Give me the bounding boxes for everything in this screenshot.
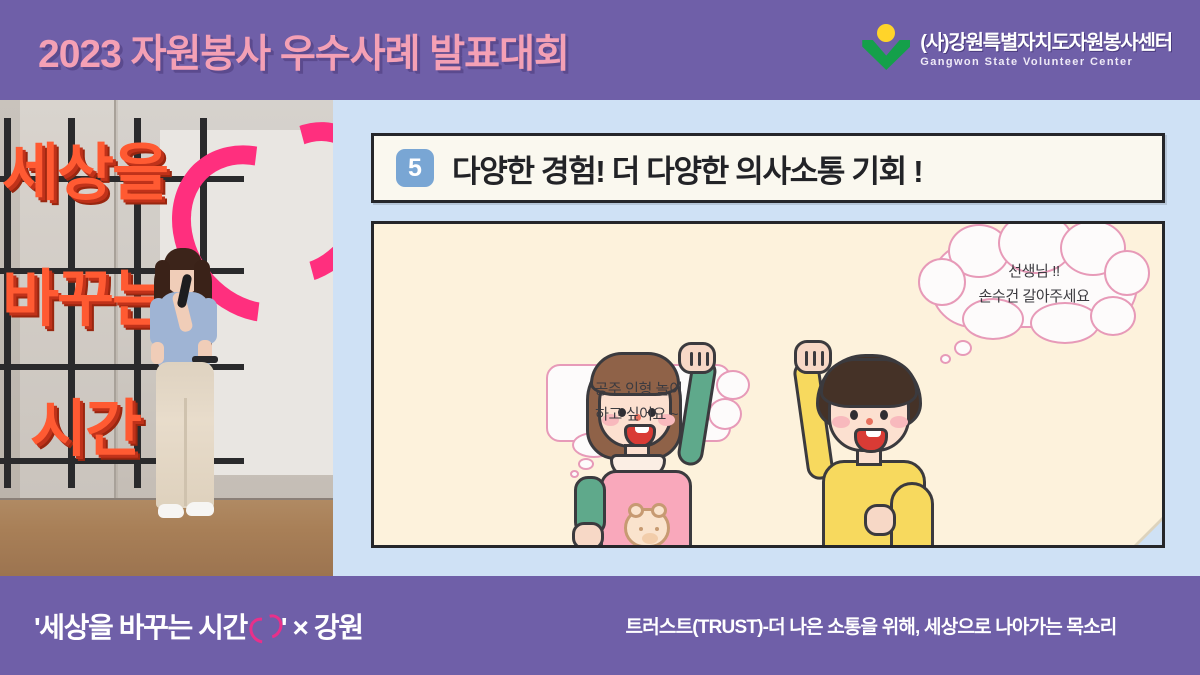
presenter-figure — [140, 248, 230, 533]
volunteer-center-logo-icon — [862, 24, 910, 70]
slide-heading: 다양한 경험! 더 다양한 의사소통 기회 ! — [452, 146, 922, 191]
girl-hand-left — [572, 522, 604, 548]
boy-raised-fist — [794, 340, 832, 374]
presenter-shoe-right — [186, 502, 214, 516]
boy-character — [794, 334, 1009, 548]
logo-sun-icon — [877, 24, 895, 42]
boy-eye-right — [880, 410, 888, 420]
logo-english-name: Gangwon State Volunteer Center — [920, 56, 1172, 68]
boy-lowered-fist — [864, 504, 896, 536]
slide-number-badge: 5 — [396, 149, 434, 187]
presenter-sleeve-right — [200, 298, 217, 344]
girl-bubble-line-2: 하고 싶어요 ~! — [595, 403, 682, 428]
presenter-video-panel: 세상을 바꾸는 시간 — [0, 100, 333, 576]
presenter-sleeve-left — [150, 298, 167, 346]
bear-eye-right — [655, 527, 659, 531]
slide-caption: 트러스트(TRUST)-더 나은 소통을 위해, 세상으로 나아가는 목소리 — [560, 612, 1182, 639]
organization-logo: (사)강원특별자치도자원봉사센터 Gangwon State Volunteer… — [862, 24, 1172, 70]
main-stage: 세상을 바꾸는 시간 — [0, 100, 1200, 576]
girl-bubble-line-1: 공주 인형 놀이 — [595, 378, 683, 403]
bubble-lobe — [918, 258, 966, 306]
boy-bangs — [820, 358, 918, 408]
boy-cheek-right — [890, 416, 908, 428]
girl-shirt-bear-icon — [624, 508, 670, 548]
presenter-hand-left — [151, 342, 164, 364]
heart-icon — [250, 613, 278, 639]
program-title-suffix: ' × 강원 — [281, 606, 363, 646]
boy-thought-bubble: 선생님 !! 손수건 갈아주세요 — [930, 242, 1138, 328]
slide-panel: 5 다양한 경험! 더 다양한 의사소통 기회 ! 공주 인형 놀이 하고 싶어… — [333, 100, 1200, 576]
panel-corner-cut — [1135, 518, 1165, 548]
bear-snout — [642, 533, 658, 544]
boy-teeth — [866, 431, 881, 437]
presentation-screen: 2023 자원봉사 우수사례 발표대회 (사)강원특별자치도자원봉사센터 Gan… — [0, 0, 1200, 675]
bubble-lobe — [1104, 250, 1150, 296]
presenter-shoe-left — [158, 504, 184, 518]
girl-raised-fist — [678, 342, 716, 374]
girl-teeth — [635, 427, 649, 433]
logo-heart-chevron-icon — [862, 40, 910, 70]
slide-title-box: 5 다양한 경험! 더 다양한 의사소통 기회 ! — [371, 133, 1165, 203]
presenter-pants-seam — [184, 398, 187, 506]
stage-letter-line-3: 시간 — [30, 378, 140, 468]
bear-ear-right — [651, 503, 667, 518]
program-brand: '세상을 바꾸는 시간 ' × 강원 — [34, 606, 363, 646]
top-header-bar: 2023 자원봉사 우수사례 발표대회 (사)강원특별자치도자원봉사센터 Gan… — [0, 0, 1200, 100]
bear-eye-left — [639, 527, 643, 531]
girl-character — [572, 336, 787, 548]
boy-lowered-arm — [890, 482, 934, 548]
event-title: 2023 자원봉사 우수사례 발표대회 — [38, 23, 569, 79]
boy-bubble-line-2: 손수건 갈아주세요 — [979, 285, 1090, 310]
logo-korean-name: (사)강원특별자치도자원봉사센터 — [920, 26, 1172, 55]
boy-cheek-left — [832, 416, 850, 428]
program-title-prefix: '세상을 바꾸는 시간 — [34, 606, 247, 646]
slide-content-panel: 공주 인형 놀이 하고 싶어요 ~! 선생님 !! 손수건 갈아 — [371, 221, 1165, 548]
stage-letter-line-1: 세상을 — [2, 122, 167, 212]
boy-bubble-line-1: 선생님 !! — [1008, 260, 1060, 285]
bear-ear-left — [628, 503, 644, 518]
bubble-lobe — [1090, 296, 1136, 336]
logo-text-block: (사)강원특별자치도자원봉사센터 Gangwon State Volunteer… — [920, 26, 1172, 68]
boy-eye-left — [850, 410, 858, 420]
boy-nose — [866, 418, 873, 425]
